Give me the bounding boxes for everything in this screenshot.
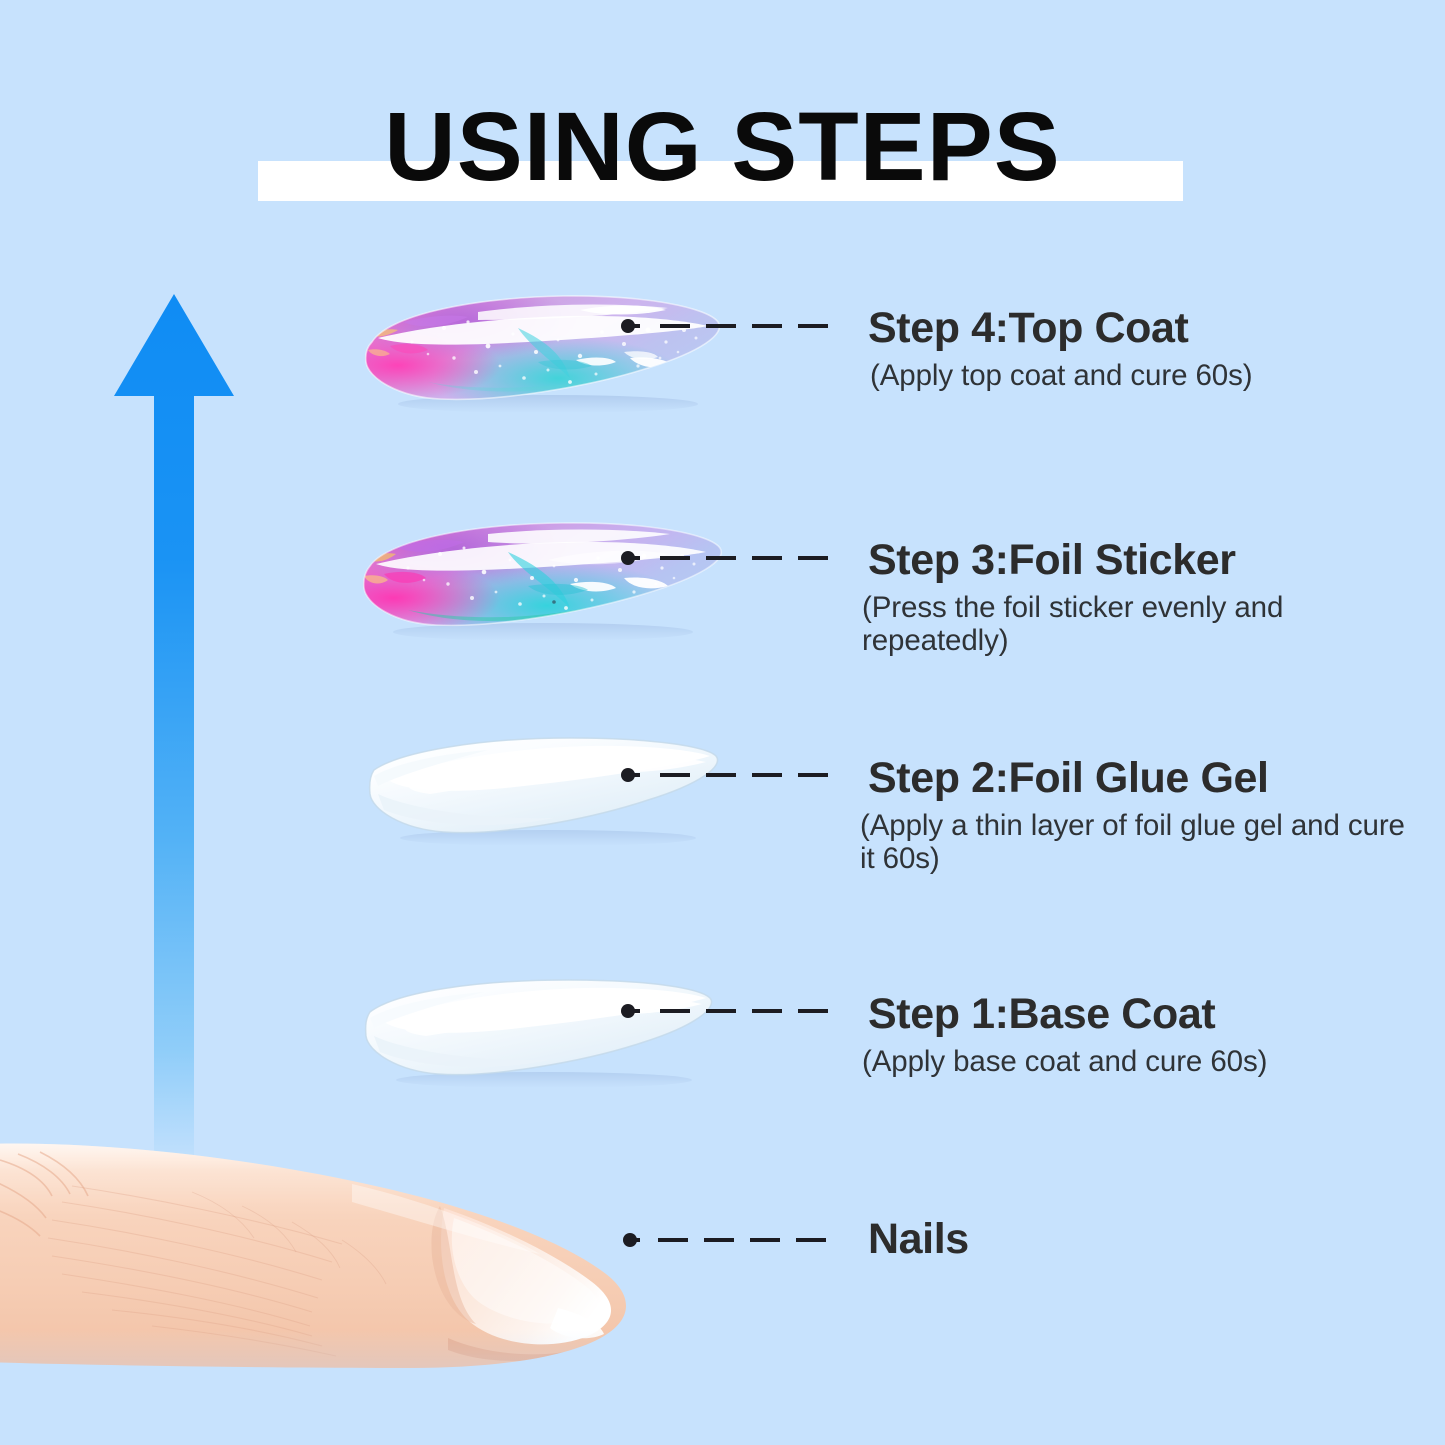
step-title-step-1: Step 1:Base Coat xyxy=(868,992,1388,1038)
step-subtitle-step-1: (Apply base coat and cure 60s) xyxy=(862,1045,1388,1078)
poster-canvas: USING STEPS xyxy=(0,0,1445,1445)
step-title-step-3: Step 3:Foil Sticker xyxy=(868,538,1388,584)
step-title-nails: Nails xyxy=(868,1215,969,1264)
step-block-step-2: Step 2:Foil Glue Gel (Apply a thin layer… xyxy=(868,756,1428,875)
dashed-leader-line-step-3 xyxy=(620,551,850,565)
dashed-leader-line-nails xyxy=(622,1233,852,1247)
finger-photo xyxy=(0,1122,672,1445)
page-title: USING STEPS xyxy=(0,98,1445,195)
step-title-step-4: Step 4:Top Coat xyxy=(868,306,1413,352)
dashed-leader-line-step-4 xyxy=(620,319,850,333)
nail-tip-photo-step-1 xyxy=(348,962,730,1090)
dashed-leader-line-step-2 xyxy=(620,768,850,782)
dashed-leader-line-step-1 xyxy=(620,1004,850,1018)
step-title-step-2: Step 2:Foil Glue Gel xyxy=(868,756,1428,802)
step-block-step-4: Step 4:Top Coat (Apply top coat and cure… xyxy=(868,306,1413,392)
step-block-step-3: Step 3:Foil Sticker (Press the foil stic… xyxy=(868,538,1388,657)
nail-tip-photo-step-2 xyxy=(348,728,730,850)
step-subtitle-step-2: (Apply a thin layer of foil glue gel and… xyxy=(860,809,1405,875)
step-block-step-1: Step 1:Base Coat (Apply base coat and cu… xyxy=(868,992,1388,1078)
up-arrow-icon xyxy=(108,292,240,1172)
nail-tip-photo-step-4 xyxy=(348,286,730,414)
step-subtitle-step-3: (Press the foil sticker evenly and repea… xyxy=(862,591,1342,657)
step-subtitle-step-4: (Apply top coat and cure 60s) xyxy=(870,359,1413,392)
nail-tip-photo-step-3 xyxy=(348,516,730,644)
